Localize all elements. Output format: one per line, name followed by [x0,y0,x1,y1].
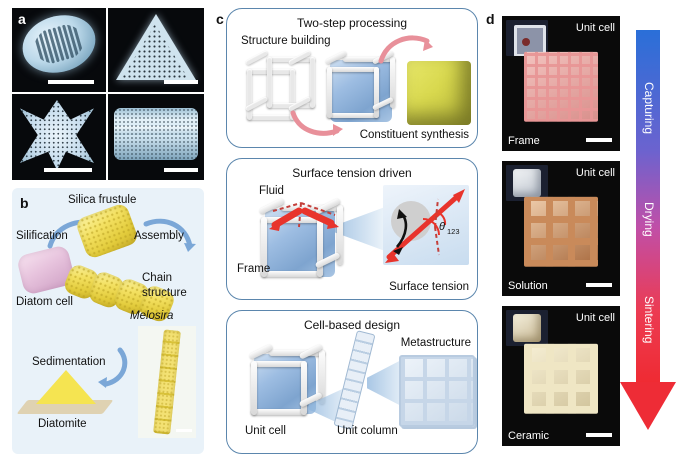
scale-bar [586,138,612,142]
label-theta-symbol: θ [439,221,445,233]
scale-bar [586,283,612,287]
melosira-photograph [138,326,196,438]
metastructure-illustration [399,355,475,427]
process-arrow-up-icon [377,31,435,65]
process-step-capturing: Capturing [642,82,656,134]
label-diatomite: Diatomite [38,418,87,430]
scale-bar [586,433,612,437]
label-unit-cell-frame: Unit cell [576,22,615,34]
frame-lattice-photo [524,51,598,121]
scale-bar [164,80,198,84]
label-theta-subscript: 123 [447,227,460,236]
panel-d-letter: d [486,12,495,26]
label-surface-tension: Surface tension [389,281,469,293]
panel-c-design-principles: c Two-step processing Structure building [216,6,478,458]
label-unit-cell-solution: Unit cell [576,167,615,179]
process-arrow-down-icon [289,109,345,141]
box-two-step-processing: Two-step processing Structure building [226,8,478,148]
caption-solution: Solution [508,280,548,292]
label-silica-frustule: Silica frustule [68,194,136,206]
panel-d-fabrication-stages: d Unit cell Frame Unit cell Solution Uni… [484,6,690,458]
label-assembly: Assembly [134,230,184,242]
panel-b-diatom-lifecycle: b Silica frustule Silification Assembly … [12,188,204,454]
sem-image-cylindrical-frustule [108,94,204,180]
photo-solution-stage: Unit cell Solution [502,161,620,296]
frame-with-fluid-cube [259,201,345,287]
tension-vectors-icon [383,185,469,265]
label-metastructure: Metastructure [401,337,471,349]
sem-image-triangular-frustule [108,8,204,92]
label-chain-structure-line2: structure [142,287,187,299]
scale-bar [176,429,192,432]
label-fluid: Fluid [259,185,284,197]
process-step-sintering: Sintering [642,296,656,343]
sem-image-oval-frustule: a [12,8,106,92]
synthesized-constituent-cube [407,61,471,125]
sem-image-star-frustule [12,94,106,180]
box-surface-tension-driven: Surface tension driven Fluid [226,158,478,300]
label-structure-building: Structure building [241,35,331,47]
panel-a-sem-micrographs: a [12,8,204,180]
surface-tension-inset-diagram: θ 123 [383,185,469,265]
frustule-ribs [30,19,89,69]
melosira-chain [153,329,181,434]
frustule-pore-array [20,100,94,170]
scale-bar [164,168,198,172]
frustule-pore-array [114,108,198,160]
process-step-drying: Drying [642,202,656,237]
oval-frustule-shape [16,8,103,81]
panel-c-letter: c [216,12,224,26]
photo-frame-stage: Unit cell Frame [502,16,620,151]
scale-bar [48,80,94,84]
box-cell-based-design: Cell-based design Unit cell Unit column … [226,310,478,454]
label-unit-column: Unit column [337,425,398,437]
ceramic-lattice-photo [524,344,598,414]
label-melosira: Melosira [130,310,173,322]
unit-cell-inset-ceramic [506,310,548,346]
label-chain-structure-line1: Chain [142,272,172,284]
label-unit-cell: Unit cell [245,425,286,437]
caption-ceramic: Ceramic [508,430,549,442]
diatomite-pile [36,370,96,404]
panel-b-letter: b [20,196,29,210]
panel-a-letter: a [18,12,26,26]
label-unit-cell-ceramic: Unit cell [576,312,615,324]
title-surface-tension-driven: Surface tension driven [227,166,477,180]
label-sedimentation: Sedimentation [32,356,106,368]
process-arrowhead-icon [620,382,676,430]
label-frame: Frame [237,263,270,275]
title-two-step-processing: Two-step processing [227,16,477,30]
label-silification: Silification [16,230,68,242]
label-constituent-synthesis: Constituent synthesis [360,129,469,141]
scale-bar [44,168,92,172]
photo-ceramic-stage: Unit cell Ceramic [502,306,620,446]
surface-tension-arrows-icon [259,201,347,255]
caption-frame: Frame [508,135,540,147]
title-cell-based-design: Cell-based design [227,318,477,332]
solution-lattice-photo [524,196,598,266]
